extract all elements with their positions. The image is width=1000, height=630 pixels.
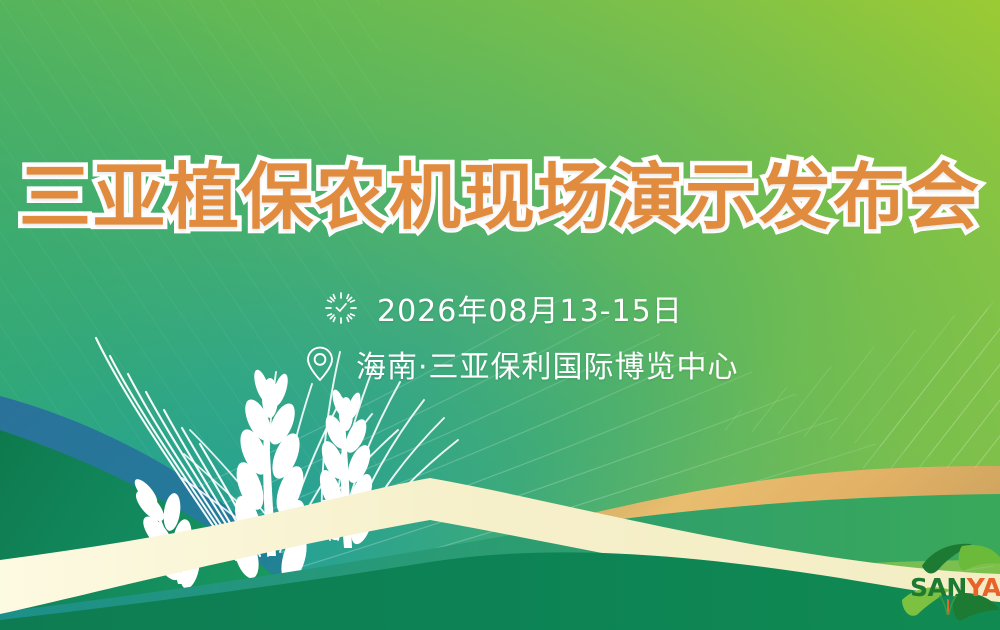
logo-text-primary: SAN	[910, 573, 967, 602]
logo-text-accent: YA	[967, 573, 1000, 602]
title-block: 三亚植保农机现场演示发布会	[0, 160, 1000, 236]
sanya-logo: SANYA	[905, 545, 1000, 630]
page-title: 三亚植保农机现场演示发布会	[19, 160, 981, 236]
map-pin-icon	[300, 344, 340, 384]
event-banner: 三亚植保农机现场演示发布会	[0, 0, 1000, 630]
event-venue-text: 海南·三亚保利国际博览中心	[356, 342, 739, 386]
sanya-logo-text: SANYA	[910, 575, 1000, 600]
event-venue-row: 海南·三亚保利国际博览中心	[300, 342, 700, 386]
event-date-text: 2026年08月13-15日	[377, 286, 683, 330]
sunburst-icon	[321, 288, 361, 328]
event-info-block: 2026年08月13-15日 海南·三亚保利国际博览中心	[0, 286, 1000, 386]
event-date-row: 2026年08月13-15日	[279, 286, 721, 330]
content-layer: 三亚植保农机现场演示发布会	[0, 0, 1000, 630]
